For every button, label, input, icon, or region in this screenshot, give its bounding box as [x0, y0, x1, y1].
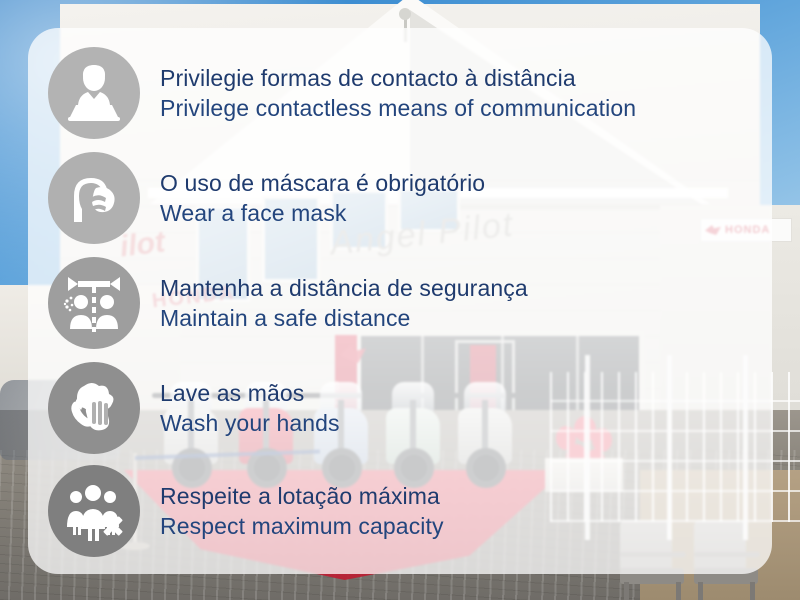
rule-text: Lave as mãos Wash your hands: [160, 378, 340, 438]
washing-hands-icon: [48, 362, 140, 454]
rule-line-en: Wash your hands: [160, 408, 340, 438]
rule-line-pt: Lave as mãos: [160, 378, 340, 408]
rule-line-en: Maintain a safe distance: [160, 303, 528, 333]
rule-text: O uso de máscara é obrigatório Wear a fa…: [160, 168, 485, 228]
chair-leg: [750, 582, 755, 600]
face-mask-icon: [48, 152, 140, 244]
rule-text: Mantenha a distância de segurança Mainta…: [160, 273, 528, 333]
rule-line-pt: O uso de máscara é obrigatório: [160, 168, 485, 198]
roof-antenna-ball: [399, 8, 411, 20]
rule-line-pt: Respeite a lotação máxima: [160, 481, 444, 511]
poster-stage: Angel Pilot ilot HONDA HONDA Bem - Vindo: [0, 0, 800, 600]
rule-line-en: Privilege contactless means of communica…: [160, 93, 636, 123]
rule-text: Privilegie formas de contacto à distânci…: [160, 63, 636, 123]
rule-item-social-distance: Mantenha a distância de segurança Mainta…: [48, 250, 748, 355]
social-distance-icon: [48, 257, 140, 349]
chair-leg: [676, 582, 681, 600]
rule-item-max-capacity: Respeite a lotação máxima Respect maximu…: [48, 458, 748, 563]
chair-leg: [698, 582, 703, 600]
rule-item-contactless: Privilegie formas de contacto à distânci…: [48, 40, 748, 145]
person-at-laptop-icon: [48, 47, 140, 139]
rule-line-pt: Privilegie formas de contacto à distânci…: [160, 63, 636, 93]
chair-leg: [624, 582, 629, 600]
rule-item-wash-hands: Lave as mãos Wash your hands: [48, 355, 748, 460]
rule-item-face-mask: O uso de máscara é obrigatório Wear a fa…: [48, 145, 748, 250]
rule-text: Respeite a lotação máxima Respect maximu…: [160, 481, 444, 541]
rules-list: Privilegie formas de contacto à distânci…: [28, 28, 772, 574]
rule-line-en: Wear a face mask: [160, 198, 485, 228]
max-capacity-icon: [48, 465, 140, 557]
rule-line-pt: Mantenha a distância de segurança: [160, 273, 528, 303]
rule-line-en: Respect maximum capacity: [160, 511, 444, 541]
